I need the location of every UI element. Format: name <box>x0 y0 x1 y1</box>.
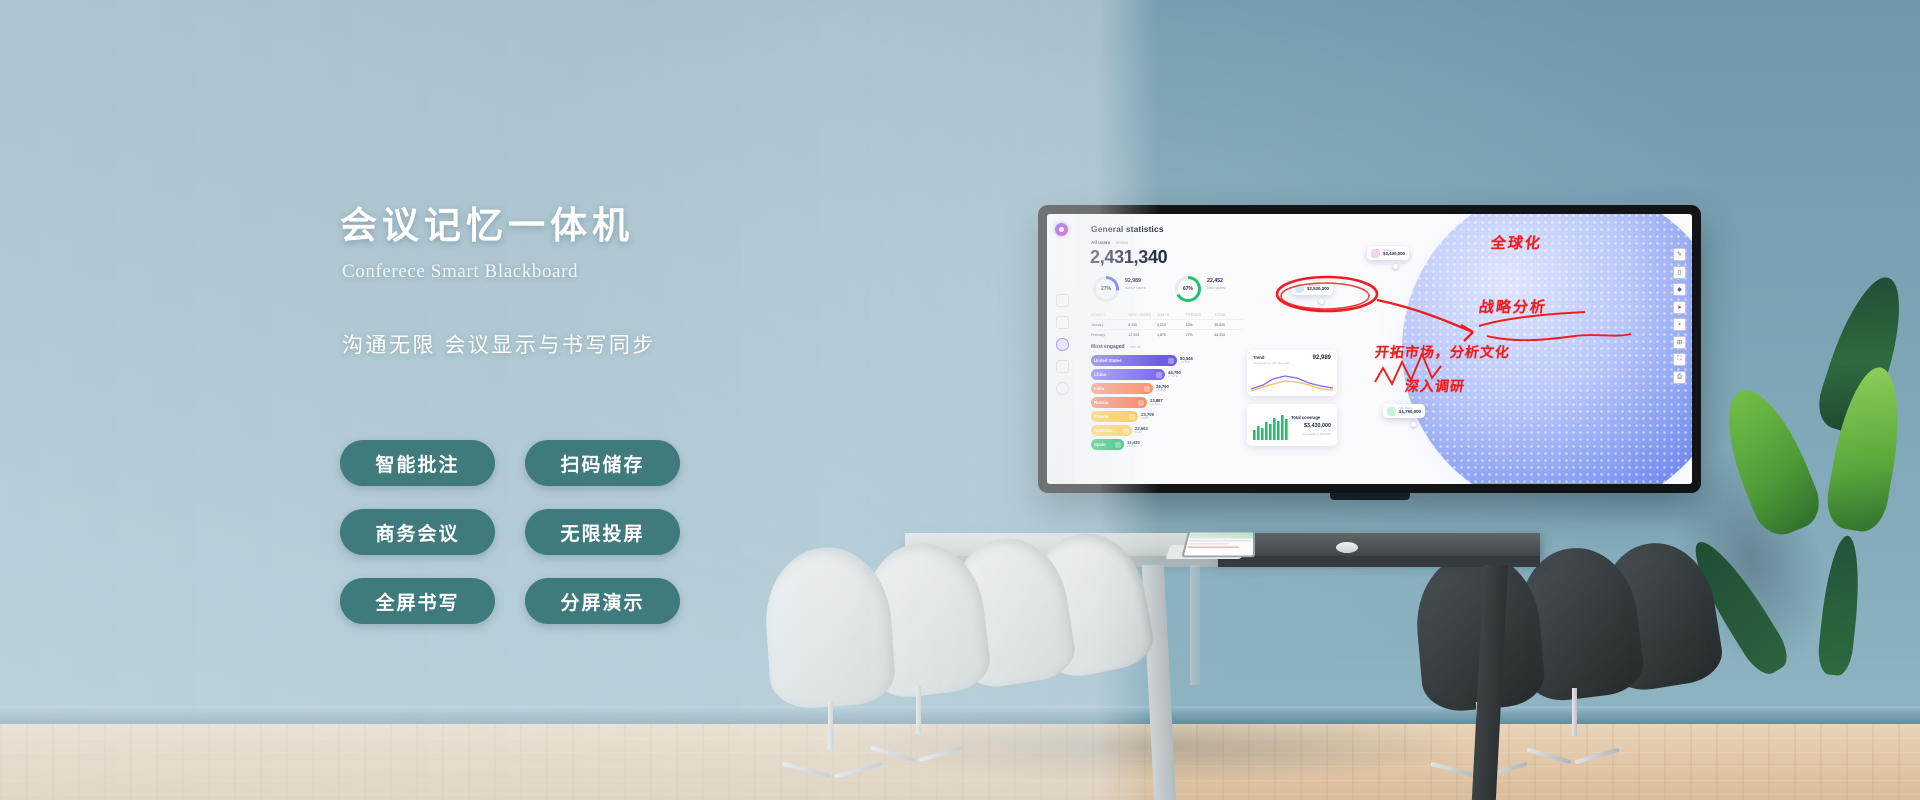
screenshot-icon[interactable]: ⎙ <box>1673 371 1686 384</box>
feature-button-business-meeting[interactable]: 商务会议 <box>340 509 495 555</box>
feature-button-smart-annotation[interactable]: 智能批注 <box>340 440 495 486</box>
lighting-overlay-edge <box>1100 0 1160 800</box>
ink-line-3: 开拓市场，分析文化 <box>1374 342 1511 362</box>
dashboard-body: General statistics All users series 2,43… <box>1075 214 1692 484</box>
pin-icon <box>1387 407 1396 416</box>
tablet-device[interactable] <box>1181 531 1255 557</box>
ink-line-4: 深入调研 <box>1404 376 1466 396</box>
flag-icon <box>1168 358 1174 364</box>
pointer-icon[interactable]: ➤ <box>1673 301 1686 314</box>
chair-base <box>1526 688 1626 758</box>
pin-icon <box>1295 284 1304 293</box>
hero-copy: 会议记忆一体机 Conferece Smart Blackboard 沟通无限 … <box>340 205 960 359</box>
table-leg-brace <box>1190 565 1200 685</box>
highlight-icon[interactable]: ▪ <box>1673 318 1686 331</box>
fullscreen-icon[interactable]: ⛶ <box>1673 353 1686 366</box>
donut-value: 22,452 <box>1207 278 1223 284</box>
donut-percent: 67% <box>1175 276 1201 302</box>
map-pin-dot <box>1319 299 1324 304</box>
trend-card[interactable]: Trend Compared to 12% last year 92,989 <box>1247 350 1337 396</box>
page-tagline: 沟通无限 会议显示与书写同步 <box>342 329 960 359</box>
eraser-icon[interactable]: ▯ <box>1673 266 1686 279</box>
ink-line-1: 全球化 <box>1490 232 1544 253</box>
ink-line-2: 战略分析 <box>1478 296 1549 317</box>
pin-icon <box>1371 249 1380 258</box>
map-pin-dot <box>1393 264 1398 269</box>
donut-new-users: 67% <box>1175 276 1201 302</box>
page-subtitle: Conferece Smart Blackboard <box>342 261 960 283</box>
map-pin-dot <box>1411 422 1416 427</box>
hero-banner: General statistics All users series 2,43… <box>0 0 1920 800</box>
feature-button-split-presentation[interactable]: 分屏演示 <box>525 578 680 624</box>
feature-button-unlimited-casting[interactable]: 无限投屏 <box>525 509 680 555</box>
grid-icon[interactable]: ⊞ <box>1673 336 1686 349</box>
total-coverage-card[interactable]: Total coverage $3,430,000 Compared to $3… <box>1247 404 1337 446</box>
map-pin-sao-paulo[interactable]: São Paulo$1,790,000 <box>1383 404 1425 418</box>
lighting-overlay-left <box>0 0 1100 800</box>
display-toolbar: ✎ ▯ ◆ ➤ ▪ ⊞ ⛶ ⎙ <box>1673 248 1686 384</box>
map-pin-toronto[interactable]: Toronto$3,430,000 <box>1367 246 1409 260</box>
banana-leaf-plant <box>1770 270 1920 690</box>
table-puck-device <box>1336 542 1358 553</box>
feature-button-grid: 智能批注 扫码储存 商务会议 无限投屏 全屏书写 分屏演示 <box>340 440 690 624</box>
trend-line-chart <box>1247 370 1337 394</box>
feature-button-qr-storage[interactable]: 扫码储存 <box>525 440 680 486</box>
pen-icon[interactable]: ✎ <box>1673 248 1686 261</box>
donut-caption: New users <box>1207 286 1225 290</box>
shape-icon[interactable]: ◆ <box>1673 283 1686 296</box>
feature-button-fullscreen-writing[interactable]: 全屏书写 <box>340 578 495 624</box>
page-title: 会议记忆一体机 <box>340 205 960 249</box>
map-pin-vancouver[interactable]: Vancouver$2,530,300 <box>1291 281 1333 295</box>
coverage-bar-chart <box>1252 412 1292 440</box>
